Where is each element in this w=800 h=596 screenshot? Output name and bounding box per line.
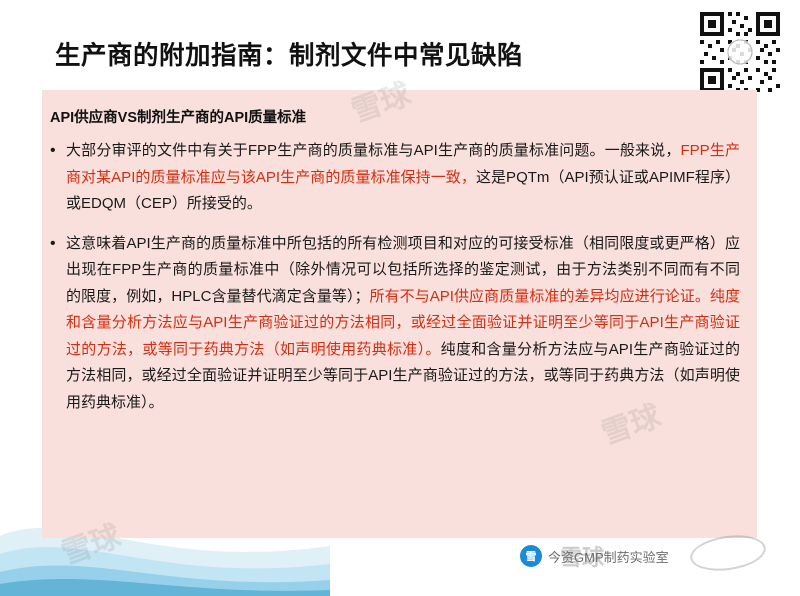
avatar: 雪 xyxy=(520,545,542,567)
slide: 生产商的附加指南：制剂文件中常见缺陷 xyxy=(0,0,800,596)
bullet-2-text: 这意味着API生产商的质量标准中所包括的所有检测项目和对应的可接受标准（相同限度… xyxy=(66,231,740,417)
account-name: 今资GMP制药实验室 xyxy=(548,547,669,566)
bullet-1-seg-0: 大部分审评的文件中有关于FPP生产商的质量标准与API生产商的质量标准问题。一般… xyxy=(66,142,681,159)
list-item: • 大部分审评的文件中有关于FPP生产商的质量标准与API生产商的质量标准问题。… xyxy=(50,138,740,218)
bullet-1-text: 大部分审评的文件中有关于FPP生产商的质量标准与API生产商的质量标准问题。一般… xyxy=(66,138,740,218)
panel-heading: API供应商VS制剂生产商的API质量标准 xyxy=(50,106,306,127)
account-watermark: 雪 今资GMP制药实验室 xyxy=(520,545,669,567)
bullet-marker: • xyxy=(50,231,66,417)
page-title: 生产商的附加指南：制剂文件中常见缺陷 xyxy=(55,35,523,72)
qr-code xyxy=(696,8,784,96)
bullet-marker: • xyxy=(50,138,66,218)
content-panel: API供应商VS制剂生产商的API质量标准 • 大部分审评的文件中有关于FPP生… xyxy=(42,90,757,538)
list-item: • 这意味着API生产商的质量标准中所包括的所有检测项目和对应的可接受标准（相同… xyxy=(50,231,740,417)
bullet-list: • 大部分审评的文件中有关于FPP生产商的质量标准与API生产商的质量标准问题。… xyxy=(50,138,740,429)
